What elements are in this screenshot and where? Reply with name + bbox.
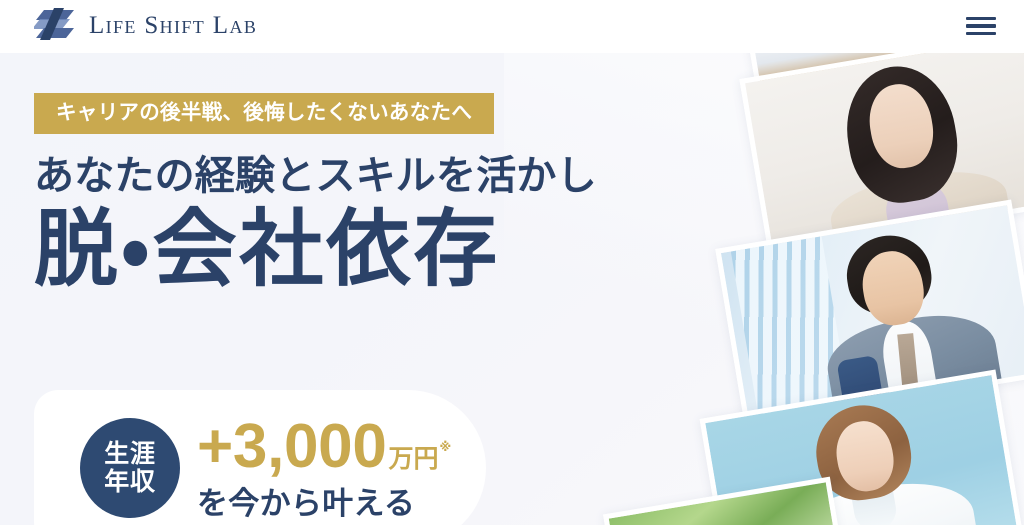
hero-eyebrow-badge: キャリアの後半戦、後悔したくないあなたへ xyxy=(34,93,494,134)
hero-section: キャリアの後半戦、後悔したくないあなたへ あなたの経験とスキルを活かし 脱・会社… xyxy=(0,53,1024,525)
hamburger-menu-icon[interactable] xyxy=(966,14,996,38)
income-badge-line1: 生涯 xyxy=(104,441,156,468)
hamburger-bar-3 xyxy=(966,32,996,35)
hero-headline-sub: あなたの経験とスキルを活かし xyxy=(34,154,654,199)
hero-copy: キャリアの後半戦、後悔したくないあなたへ あなたの経験とスキルを活かし 脱・会社… xyxy=(34,53,654,297)
income-footnote-mark: ※ xyxy=(440,441,452,453)
lifeshift-logo-icon xyxy=(34,7,76,43)
lifetime-income-card: 生涯 年収 +3,000 万円 ※ を今から叶える xyxy=(34,390,486,525)
income-tagline: を今から叶える xyxy=(197,487,487,521)
income-text-block: +3,000 万円 ※ を今から叶える xyxy=(197,416,487,521)
brand-wordmark: Life Shift Lab xyxy=(89,13,257,38)
hamburger-bar-2 xyxy=(966,24,996,27)
site-header: Life Shift Lab xyxy=(0,0,1024,53)
income-amount-unit: 万円 xyxy=(389,447,439,472)
income-amount-value: +3,000 xyxy=(197,416,387,478)
income-badge-line2: 年収 xyxy=(104,469,156,496)
hero-headline-main: 脱・会社依存 xyxy=(34,206,654,297)
landing-page: Life Shift Lab xyxy=(0,0,1024,525)
hamburger-bar-1 xyxy=(966,17,996,20)
income-amount-row: +3,000 万円 ※ xyxy=(197,416,487,478)
lifetime-income-badge: 生涯 年収 xyxy=(80,418,180,518)
brand-logo-link[interactable]: Life Shift Lab xyxy=(34,7,257,43)
